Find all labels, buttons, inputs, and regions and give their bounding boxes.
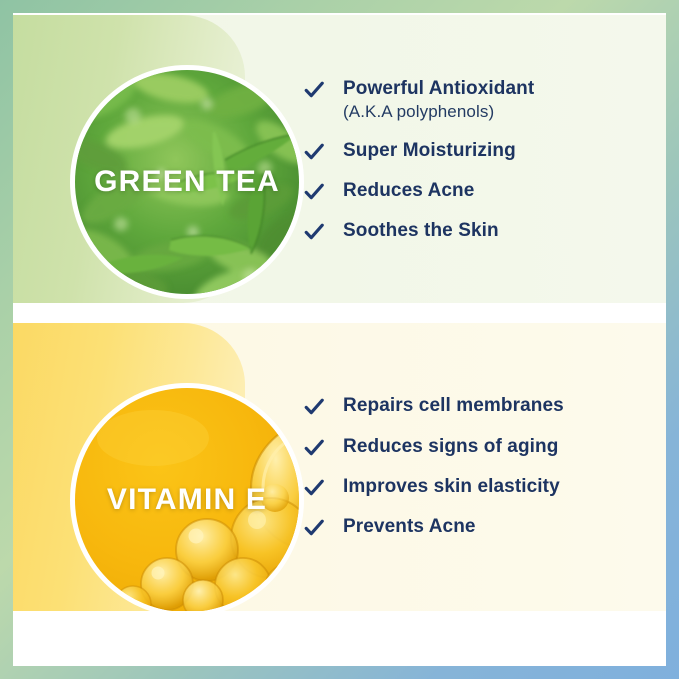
benefit-title: Improves skin elasticity [343,475,560,499]
check-icon [303,517,325,539]
benefit-item: Powerful Antioxidant (A.K.A polyphenols) [303,77,648,123]
card-green-tea: GREEN TEA Powerful Antioxidant (A.K.A po… [13,15,666,303]
benefit-title: Reduces Acne [343,179,474,203]
benefit-subtitle: (A.K.A polyphenols) [343,101,534,123]
benefit-item: Improves skin elasticity [303,475,648,499]
benefit-item: Reduces Acne [303,179,648,203]
benefit-text: Reduces Acne [343,179,474,203]
benefit-text: Prevents Acne [343,515,476,539]
benefit-title: Super Moisturizing [343,139,516,163]
check-icon [303,141,325,163]
benefit-item: Repairs cell membranes [303,394,648,418]
benefit-item: Soothes the Skin [303,219,648,243]
circle-image-green-tea: GREEN TEA [75,70,299,294]
benefit-title: Soothes the Skin [343,219,499,243]
benefit-item: Super Moisturizing [303,139,648,163]
check-icon [303,181,325,203]
circle-image-vitamin-e: VITAMIN E [75,388,299,611]
check-icon [303,437,325,459]
check-icon [303,396,325,418]
benefit-item: Reduces signs of aging [303,435,648,459]
benefit-title: Prevents Acne [343,515,476,539]
benefit-title: Powerful Antioxidant [343,77,534,101]
benefit-title: Reduces signs of aging [343,435,558,459]
benefit-text: Reduces signs of aging [343,435,558,459]
check-icon [303,477,325,499]
benefit-text: Soothes the Skin [343,219,499,243]
check-icon [303,221,325,243]
benefit-text: Super Moisturizing [343,139,516,163]
benefits-list-green-tea: Powerful Antioxidant (A.K.A polyphenols)… [303,15,648,303]
check-icon [303,79,325,101]
benefit-text: Repairs cell membranes [343,394,564,418]
benefit-text: Improves skin elasticity [343,475,560,499]
benefit-item: Prevents Acne [303,515,648,539]
ingredient-benefits-infographic: GREEN TEA Powerful Antioxidant (A.K.A po… [0,0,679,679]
benefit-title: Repairs cell membranes [343,394,564,418]
benefit-text: Powerful Antioxidant (A.K.A polyphenols) [343,77,534,123]
benefits-list-vitamin-e: Repairs cell membranes Reduces signs of … [303,323,648,611]
card-vitamin-e: VITAMIN E Repairs cell membranes [13,323,666,611]
